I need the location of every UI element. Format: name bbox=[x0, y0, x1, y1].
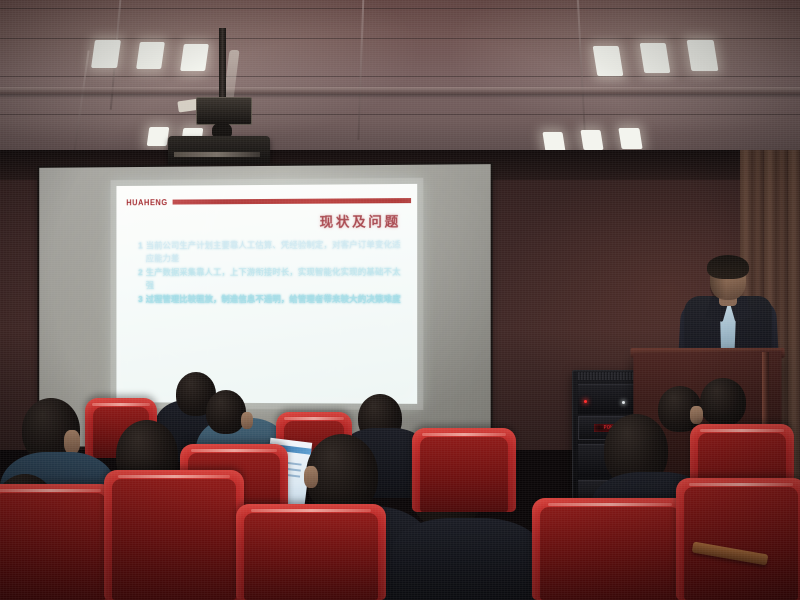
seat-rim bbox=[251, 509, 371, 512]
slide-accent-bar bbox=[173, 198, 411, 204]
attendee-shoulders bbox=[392, 518, 542, 600]
seat-rim bbox=[422, 433, 505, 436]
attendee-ear bbox=[241, 412, 253, 429]
attendee-ear bbox=[304, 466, 318, 488]
projected-slide: HUAHENG 现状及问题 1 当前公司生产计划主要靠人工估算、凭经验制定，对客… bbox=[116, 184, 417, 404]
ceiling-light bbox=[147, 127, 170, 146]
ceiling-light bbox=[580, 130, 603, 150]
ceiling-tile-seam bbox=[0, 114, 800, 115]
seat-cushion bbox=[112, 479, 236, 600]
auditorium-seat[interactable] bbox=[412, 428, 516, 512]
bullet-text: 过程管理比较粗放，制造信息不透明，给管理者带来较大的决策难度 bbox=[146, 293, 401, 306]
ceiling-light bbox=[593, 46, 624, 76]
projector-pole bbox=[219, 28, 226, 106]
ceiling-light bbox=[91, 40, 121, 68]
ceiling-light bbox=[180, 44, 209, 71]
auditorium-seat[interactable] bbox=[532, 498, 688, 600]
slide-body: 1 当前公司生产计划主要靠人工估算、凭经验制定，对客户订单变化适应能力差 2 生… bbox=[138, 238, 405, 308]
auditorium-seat[interactable] bbox=[0, 484, 114, 600]
ceiling-tile-seam bbox=[0, 76, 800, 77]
seat-rim bbox=[92, 403, 150, 406]
ceiling-light bbox=[687, 40, 719, 71]
ceiling-tile-seam bbox=[0, 38, 800, 39]
seat-rim bbox=[700, 429, 783, 432]
ceiling-light bbox=[542, 132, 565, 152]
seat-cushion bbox=[244, 513, 378, 600]
ceiling-beam bbox=[0, 87, 800, 94]
slide-bullet: 2 生产数据采集靠人工，上下游衔接时长，实现智能化实现的基础不太强 bbox=[138, 266, 405, 292]
ceiling-light bbox=[618, 128, 642, 149]
slide-logo-row: HUAHENG bbox=[126, 194, 411, 209]
seat-cushion bbox=[540, 507, 680, 600]
attendee-ear bbox=[690, 406, 703, 424]
seat-rim bbox=[689, 483, 793, 486]
projector-lens-strip bbox=[174, 152, 260, 157]
attendee-head bbox=[206, 390, 246, 434]
presenter-hair bbox=[707, 255, 749, 279]
seat-rim bbox=[284, 417, 345, 420]
bullet-number: 3 bbox=[138, 293, 143, 306]
ceiling bbox=[0, 0, 800, 172]
auditorium-seat[interactable] bbox=[676, 478, 800, 600]
attendee-head bbox=[700, 378, 746, 426]
power-led bbox=[584, 400, 587, 403]
seat-rim bbox=[548, 503, 673, 506]
seat-rim bbox=[191, 449, 277, 452]
auditorium-seat[interactable] bbox=[104, 470, 244, 600]
status-led bbox=[622, 401, 625, 404]
slide-bullet: 3 过程管理比较粗放，制造信息不透明，给管理者带来较大的决策难度 bbox=[138, 293, 405, 306]
seat-rim bbox=[0, 489, 101, 492]
auditorium-seat[interactable] bbox=[236, 504, 386, 600]
seat-cushion bbox=[0, 493, 106, 600]
seat-rim bbox=[118, 475, 230, 478]
bullet-text: 当前公司生产计划主要靠人工估算、凭经验制定，对客户订单变化适应能力差 bbox=[146, 238, 405, 264]
slide-bullet: 1 当前公司生产计划主要靠人工估算、凭经验制定，对客户订单变化适应能力差 bbox=[138, 238, 405, 264]
bullet-number: 2 bbox=[138, 266, 143, 291]
ceiling-light bbox=[136, 42, 165, 69]
bullet-number: 1 bbox=[138, 239, 143, 264]
conference-room-scene: HUAHENG 现状及问题 1 当前公司生产计划主要靠人工估算、凭经验制定，对客… bbox=[0, 0, 800, 600]
seat-cushion bbox=[420, 437, 508, 512]
ceiling-light bbox=[640, 43, 671, 73]
projector-bracket bbox=[196, 97, 252, 125]
ceiling-tint bbox=[0, 0, 800, 172]
bullet-text: 生产数据采集靠人工，上下游衔接时长，实现智能化实现的基础不太强 bbox=[146, 266, 405, 292]
huaheng-logo: HUAHENG bbox=[126, 197, 168, 207]
slide-title: 现状及问题 bbox=[320, 210, 401, 231]
attendee-ear bbox=[64, 430, 80, 454]
